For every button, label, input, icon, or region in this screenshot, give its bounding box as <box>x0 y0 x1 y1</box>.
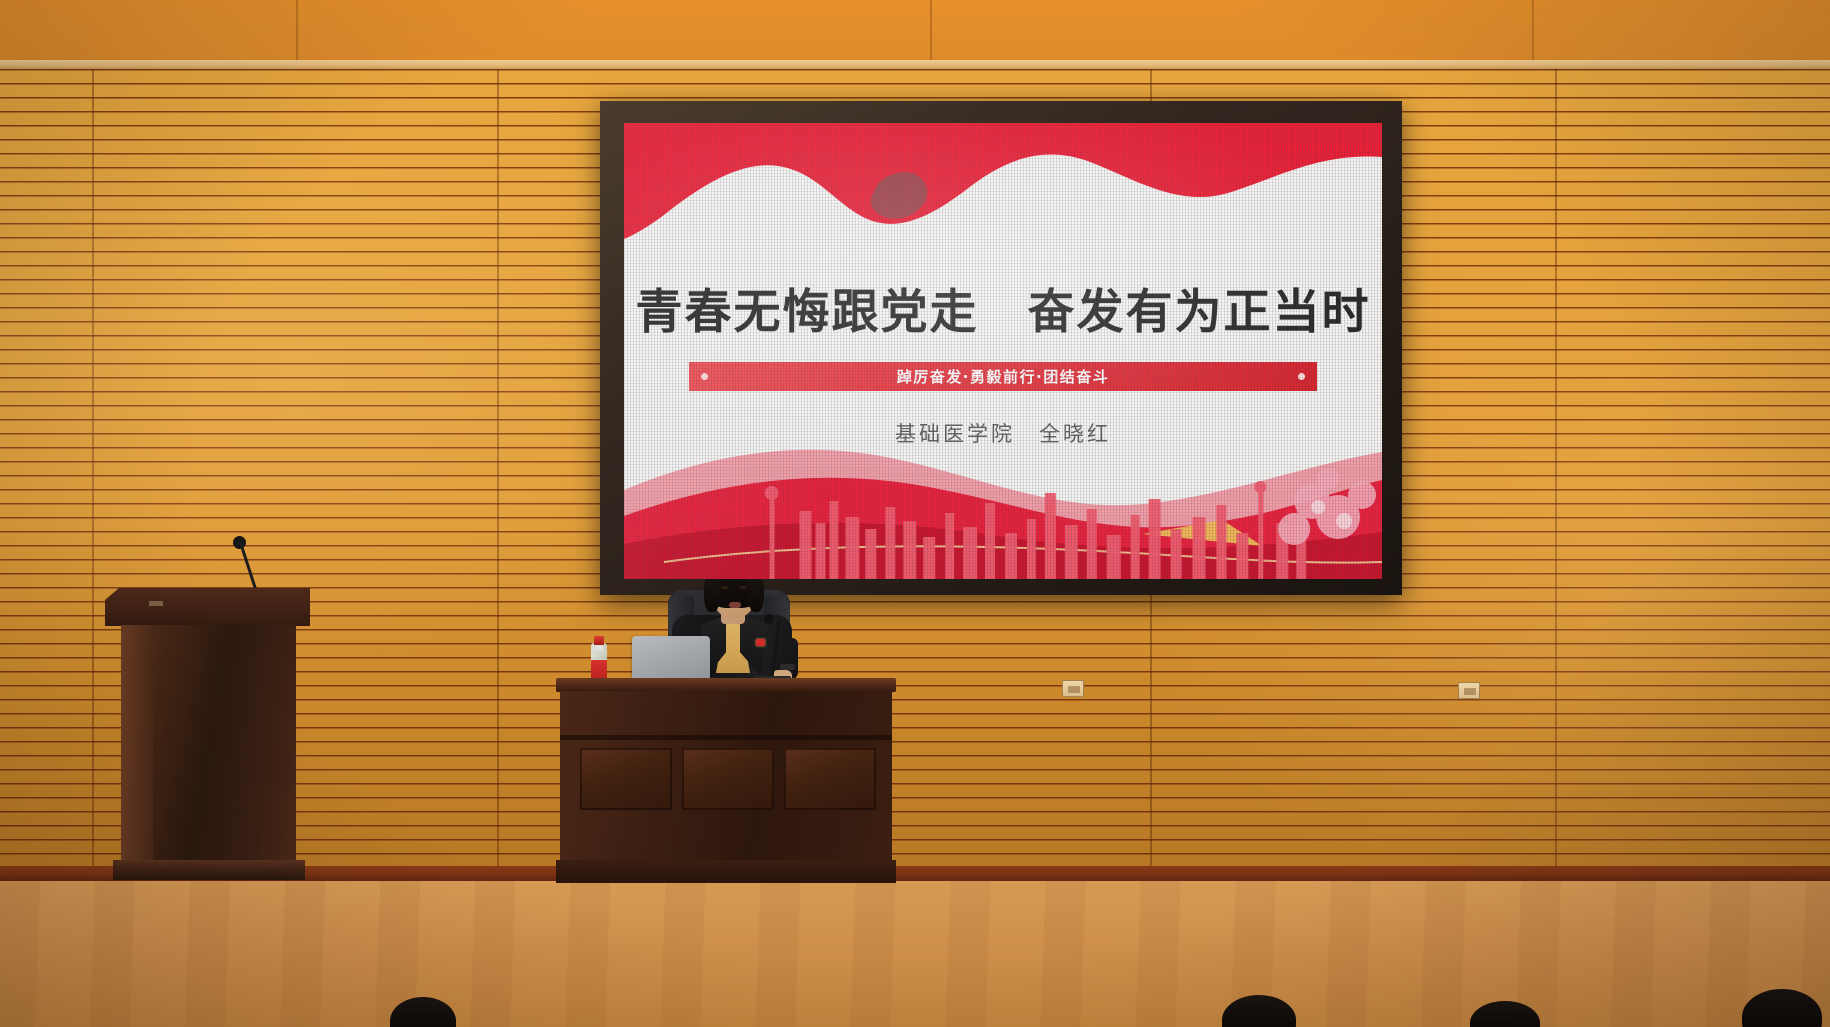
desk-panel <box>784 748 876 810</box>
banner-dot-right-icon <box>1298 373 1305 380</box>
water-bottle-neck <box>595 644 603 651</box>
lectern-left-column <box>121 625 153 865</box>
slide-skyline-graphic <box>624 449 1382 579</box>
speaker-hair-left <box>704 574 720 612</box>
lectern[interactable] <box>105 588 310 880</box>
water-bottle-cap <box>594 636 604 645</box>
wall-panel-joint <box>497 69 499 869</box>
wall-power-outlet[interactable] <box>1458 682 1480 699</box>
led-screen[interactable]: 青春无悔跟党走 奋发有为正当时 踔厉奋发·勇毅前行·团结奋斗 基础医学院 全晓红 <box>624 123 1382 579</box>
party-emblem-pin-icon <box>756 639 765 646</box>
wood-floor <box>0 881 1830 1027</box>
banner-dot-left-icon <box>701 373 708 380</box>
desk-panel <box>682 748 774 810</box>
speaker-hair-right <box>748 574 764 612</box>
desk-base-plinth <box>556 860 896 883</box>
slide-subtitle-banner: 踔厉奋发·勇毅前行·团结奋斗 <box>689 362 1317 391</box>
slide-title: 青春无悔跟党走 奋发有为正当时 <box>624 273 1382 342</box>
desk-microphone-head-icon <box>764 614 774 624</box>
lectern-top <box>105 588 310 626</box>
laptop-screen[interactable] <box>632 636 710 684</box>
lectern-nameplate <box>149 601 163 606</box>
speaker-desk[interactable] <box>556 678 896 883</box>
desk-rail <box>560 735 892 740</box>
auditorium-scene: 青春无悔跟党走 奋发有为正当时 踔厉奋发·勇毅前行·团结奋斗 基础医学院 全晓红 <box>0 0 1830 1027</box>
lectern-base <box>113 860 305 880</box>
water-bottle-label <box>591 660 607 679</box>
desk-panel <box>580 748 672 810</box>
speaker-mouth <box>729 602 741 608</box>
wall-panel-joint <box>1555 69 1557 869</box>
speaker-eye-left <box>721 586 728 589</box>
wall-power-outlet[interactable] <box>1062 680 1084 697</box>
slide-banner-text: 踔厉奋发·勇毅前行·团结奋斗 <box>708 366 1298 387</box>
slide-presenter-line: 基础医学院 全晓红 <box>624 418 1382 448</box>
desk-top-surface <box>556 678 896 692</box>
slide-top-wave-graphic <box>624 123 1382 273</box>
led-screen-frame: 青春无悔跟党走 奋发有为正当时 踔厉奋发·勇毅前行·团结奋斗 基础医学院 全晓红 <box>600 101 1402 595</box>
wall-panel-joint <box>92 69 94 869</box>
speaker-eye-right <box>740 586 747 589</box>
upper-wall-panel <box>0 0 1830 62</box>
